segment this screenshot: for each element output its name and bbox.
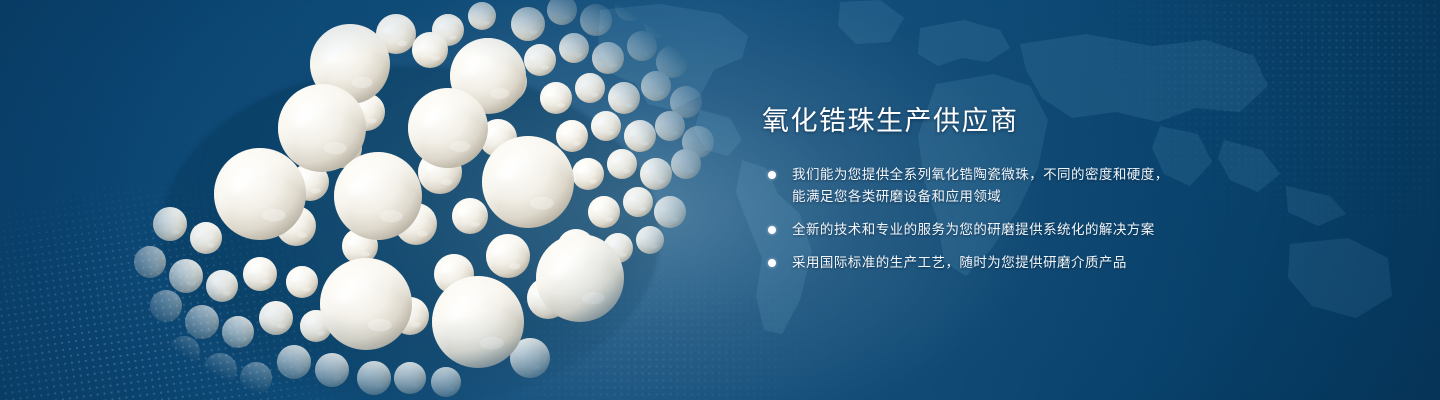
bullet-dot-icon xyxy=(768,259,776,267)
list-item-line1: 全新的技术和专业的服务为您的研磨提供系统化的解决方案 xyxy=(792,222,1155,237)
feature-list: 我们能为您提供全系列氧化锆陶瓷微珠，不同的密度和硬度， 能满足您各类研磨设备和应… xyxy=(762,164,1322,274)
list-item-line1: 采用国际标准的生产工艺，随时为您提供研磨介质产品 xyxy=(792,255,1127,270)
list-item-line1: 我们能为您提供全系列氧化锆陶瓷微珠，不同的密度和硬度， xyxy=(792,167,1169,182)
list-item-text: 我们能为您提供全系列氧化锆陶瓷微珠，不同的密度和硬度， 能满足您各类研磨设备和应… xyxy=(792,164,1322,208)
list-item-text: 采用国际标准的生产工艺，随时为您提供研磨介质产品 xyxy=(792,252,1322,274)
hero-banner: 氧化锆珠生产供应商 我们能为您提供全系列氧化锆陶瓷微珠，不同的密度和硬度， 能满… xyxy=(0,0,1440,400)
bullet-dot-icon xyxy=(768,226,776,234)
list-item: 我们能为您提供全系列氧化锆陶瓷微珠，不同的密度和硬度， 能满足您各类研磨设备和应… xyxy=(762,164,1322,208)
zirconia-beads-image xyxy=(110,0,730,400)
list-item: 采用国际标准的生产工艺，随时为您提供研磨介质产品 xyxy=(762,252,1322,274)
list-item: 全新的技术和专业的服务为您的研磨提供系统化的解决方案 xyxy=(762,219,1322,241)
list-item-text: 全新的技术和专业的服务为您的研磨提供系统化的解决方案 xyxy=(792,219,1322,241)
list-item-line2: 能满足您各类研磨设备和应用领域 xyxy=(792,186,1322,208)
bullet-dot-icon xyxy=(768,171,776,179)
page-title: 氧化锆珠生产供应商 xyxy=(762,104,1322,138)
banner-copy: 氧化锆珠生产供应商 我们能为您提供全系列氧化锆陶瓷微珠，不同的密度和硬度， 能满… xyxy=(762,104,1322,274)
